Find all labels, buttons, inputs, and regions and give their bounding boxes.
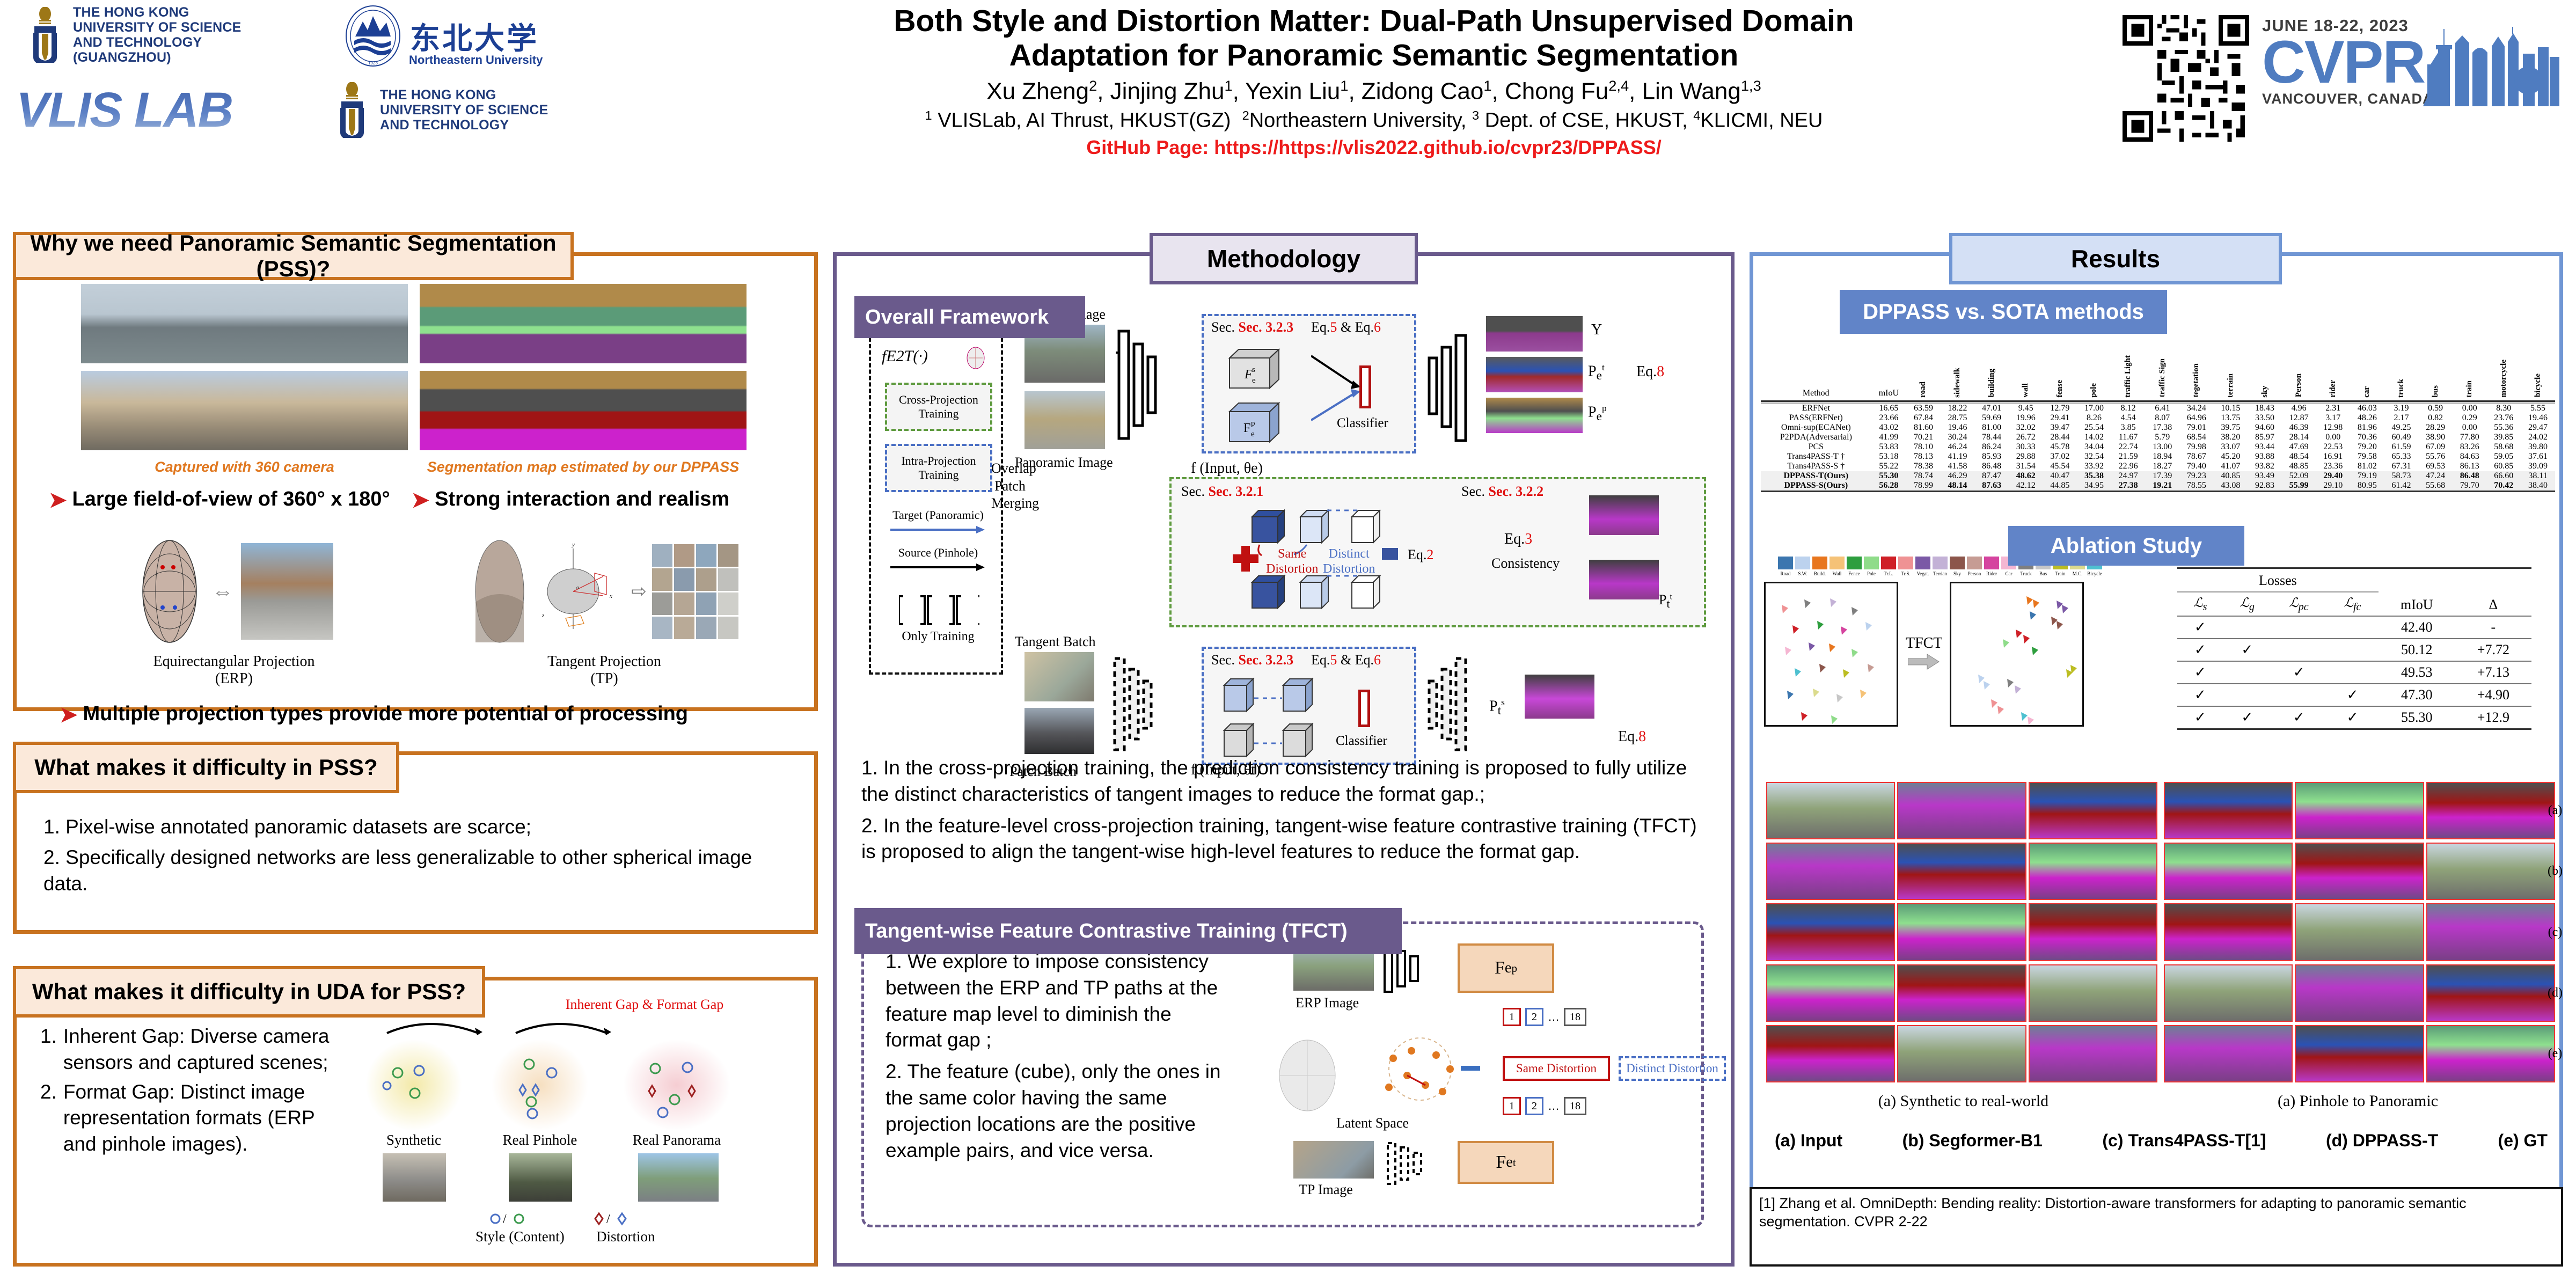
box-sec-323-top: Sec. Sec. 3.2.3 Eq.5 & Eq.6 F e s F e: [1202, 314, 1416, 453]
table-cell: 18.27: [2145, 462, 2179, 471]
table-cell: 48.54: [2282, 452, 2316, 462]
qualitative-cell: [2426, 843, 2555, 900]
label-ptt: Ptt: [1659, 592, 1672, 611]
table-cell: 93.49: [2248, 471, 2282, 481]
list-item: 1. In the cross-projection training, the…: [861, 755, 1699, 808]
legend-swatch: [1812, 557, 1827, 569]
table-cell: 78.99: [1906, 481, 1941, 492]
table-cell: 49.25: [2384, 423, 2419, 433]
table-cell: 68.54: [2179, 433, 2214, 442]
table-cell: 46.39: [2282, 423, 2316, 433]
legend-swatch: [1915, 557, 1930, 569]
table-cell: 38.40: [2521, 481, 2555, 492]
label-sec-323: Sec. Sec. 3.2.3: [1211, 319, 1293, 335]
qualitative-cell: [2164, 843, 2293, 900]
list-item: 2.Format Gap: Distinct image representat…: [40, 1079, 341, 1158]
table-cell: 18.43: [2248, 403, 2282, 413]
box-sec-323-bottom: Sec. Sec. 3.2.3 Eq.5 & Eq.6 Classifier: [1202, 647, 1416, 765]
ablation-check: [2271, 684, 2327, 706]
legend-label: Pole: [1864, 571, 1879, 576]
qualitative-cell: [1766, 903, 1895, 961]
table-cell: 78.10: [1906, 442, 1941, 452]
ablation-loss-header: ℒs: [2177, 592, 2223, 617]
section-title-difficulty-uda: What makes it difficulty in UDA for PSS?: [13, 966, 485, 1018]
hkust-gz-text: THE HONG KONG UNIVERSITY OF SCIENCE AND …: [73, 5, 241, 65]
list-item: 2. In the feature-level cross-projection…: [861, 813, 1699, 866]
qualitative-row-labels: (a)(b)(c)(d)(e): [2546, 782, 2564, 1082]
qualitative-cell: [2164, 782, 2293, 839]
table-cell: 46.03: [2350, 403, 2384, 413]
block-fep: Fep: [1458, 943, 1554, 993]
cluster-synthetic: [365, 1040, 462, 1131]
title-block: Both Style and Distortion Matter: Dual-P…: [639, 4, 2109, 159]
legend-only-training: Only Training: [877, 630, 999, 644]
table-cell: 67.09: [2418, 442, 2453, 452]
qualitative-cell: [2426, 964, 2555, 1022]
qualitative-cell: [2426, 782, 2555, 839]
author-list: Xu Zheng2, Jinjing Zhu1, Yexin Liu1, Zid…: [639, 77, 2109, 106]
stack-ptt-bottom: [1589, 560, 1659, 599]
list-item: 1. Pixel-wise annotated panoramic datase…: [43, 814, 789, 840]
table-cell: 59.69: [1974, 413, 2009, 423]
ablation-check: ✓: [2177, 684, 2223, 706]
label-erp-abbrev: (ERP): [49, 670, 419, 687]
qualitative-row: [2164, 843, 2555, 900]
vlis-lab-wordmark: VLIS LAB: [16, 82, 232, 138]
thumb-panoramic-input: [1024, 391, 1105, 449]
label-sec-323-bottom: Sec. Sec. 3.2.3: [1211, 652, 1293, 668]
table-cell: 41.19: [1941, 452, 1975, 462]
table-cell: 77.80: [2453, 433, 2487, 442]
table-cell: 85.97: [2248, 433, 2282, 442]
legend-source-pinhole: Source (Pinhole): [877, 546, 999, 560]
label-y: Y: [1591, 321, 1602, 339]
label-overlap-patch-merging: Overlap Patch Merging: [991, 460, 1029, 513]
legend-label: Road: [1778, 571, 1793, 576]
qualitative-cell: [2029, 964, 2157, 1022]
table-cell: 43.02: [1871, 423, 1907, 433]
ablation-check: ✓: [2177, 616, 2223, 639]
qualitative-cell: [1897, 964, 2026, 1022]
label-erp-name: Equirectangular Projection: [49, 653, 419, 670]
table-cell: 86.13: [2453, 462, 2487, 471]
table-cell: 45.20: [2214, 452, 2248, 462]
table-cell: 41.07: [2214, 462, 2248, 471]
table-cell: 8.12: [2111, 403, 2146, 413]
logo-vlis-lab: VLIS LAB: [16, 78, 333, 142]
table-cell: 22.96: [2111, 462, 2146, 471]
ablation-check: ✓: [2223, 639, 2271, 661]
table-cell: 0.82: [2418, 413, 2453, 423]
table-cell: 70.21: [1906, 433, 1941, 442]
table-row: DPPASS-S(Ours)56.2878.9948.1487.6342.124…: [1761, 481, 2555, 492]
panorama-photo-1: [81, 284, 408, 363]
label-synthetic: Synthetic: [365, 1132, 462, 1148]
logo-northeastern-university: 1923 东北大学 Northeastern University: [343, 4, 623, 68]
section-title-difficulty-pss: What makes it difficulty in PSS?: [13, 742, 399, 793]
qualitative-row: [1766, 843, 2157, 900]
section-title-why-pss: Why we need Panoramic Semantic Segmentat…: [13, 232, 574, 280]
table-cell: 44.85: [2043, 481, 2077, 492]
table-row: Trans4PASS-S †55.2278.3841.5886.4831.544…: [1761, 462, 2555, 471]
legend-target-panoramic: Target (Panoramic): [877, 508, 999, 522]
table-row: ✓✓49.53+7.13: [2177, 661, 2531, 684]
label-classifier-top: Classifier: [1337, 416, 1388, 431]
qualitative-cell: [1766, 1025, 1895, 1082]
table-cell: 33.50: [2248, 413, 2282, 423]
table-cell: 93.44: [2248, 442, 2282, 452]
uda-list: 1.Inherent Gap: Diverse camera sensors a…: [40, 1023, 341, 1161]
legend-label: Vegat.: [1915, 571, 1930, 576]
table-cell: 19.46: [1941, 423, 1975, 433]
feature-cubes-icon: F e s F e p: [1219, 342, 1315, 449]
table-cell: 79.19: [2350, 471, 2384, 481]
table-cell: 58.68: [2487, 442, 2521, 452]
qualitative-row: [1766, 1025, 2157, 1082]
table-cell: 79.23: [2179, 471, 2214, 481]
ablation-loss-header: ℒg: [2223, 592, 2271, 617]
table-cell: 0.59: [2418, 403, 2453, 413]
ablation-check: [2326, 661, 2378, 684]
label-tangent-batch: Tangent Batch: [1015, 634, 1096, 650]
table-cell: 79.58: [2350, 452, 2384, 462]
label-erp-image: ERP Image: [1296, 995, 1359, 1011]
list-item: 1. We explore to impose consistency betw…: [885, 949, 1229, 1053]
table-cell: 47.01: [1974, 403, 2009, 413]
legend-swatch: [1829, 557, 1845, 569]
framework-legend-box: fE2T(·) Cross-Projection Training Intra-…: [869, 331, 1003, 675]
table-cell-method: PASS(ERFNet): [1761, 413, 1871, 423]
qualitative-cell: [2295, 1025, 2424, 1082]
box-sec-321-322: Sec. Sec. 3.2.1 Sec. Sec. 3.2.2: [1169, 477, 1706, 627]
table-cell: 31.54: [2009, 462, 2043, 471]
table-cell: 37.61: [2521, 452, 2555, 462]
label-eq8-bottom: Eq.8: [1618, 728, 1646, 745]
table-cell: 48.26: [2350, 413, 2384, 423]
output-seg-3: [1486, 398, 1583, 433]
ablation-check: ✓: [2326, 706, 2378, 729]
table-col-header: train: [2453, 352, 2487, 401]
table-cell: 5.55: [2521, 403, 2555, 413]
list-item: 2. The feature (cube), only the ones in …: [885, 1059, 1229, 1163]
table-col-header: road: [1906, 352, 1941, 401]
table-cell: 67.84: [1906, 413, 1941, 423]
table-cell: 70.36: [2350, 433, 2384, 442]
table-cell: 4.54: [2111, 413, 2146, 423]
table-col-header: mIoU: [1871, 352, 1907, 401]
table-cell: 66.60: [2487, 471, 2521, 481]
black-arrow-icon: [890, 562, 987, 573]
thumb-tp-image: [1293, 1141, 1374, 1179]
qualitative-row: [2164, 903, 2555, 961]
qualitative-cell: [2295, 782, 2424, 839]
table-cell: 29.88: [2009, 452, 2043, 462]
qualitative-cell: [1766, 843, 1895, 900]
table-col-header: sidewalk: [1941, 352, 1975, 401]
qualitative-cell: [1766, 782, 1895, 839]
label-eq3: Eq.3: [1504, 531, 1532, 548]
table-cell: 48.14: [1941, 481, 1975, 492]
table-cell: 19.46: [2521, 413, 2555, 423]
table-cell: 35.38: [2077, 471, 2111, 481]
table-cell-method: DPPASS-T(Ours): [1761, 471, 1871, 481]
legend-label: Tr.L.: [1881, 571, 1896, 576]
table-cell: 0.00: [2316, 433, 2350, 442]
tsne-scatter-before-icon: [1766, 583, 1898, 727]
table-col-header: wall: [2009, 352, 2043, 401]
table-cell: 9.45: [2009, 403, 2043, 413]
table-cell: 59.05: [2487, 452, 2521, 462]
section-title-methodology: Methodology: [1150, 233, 1418, 284]
table-cell-method: Trans4PASS-T †: [1761, 452, 1871, 462]
table-cell: 22.74: [2111, 442, 2146, 452]
table-col-header: car: [2350, 352, 2384, 401]
blue-arrow-icon: [890, 524, 987, 535]
table-cell: 55.76: [2418, 452, 2453, 462]
table-cell: 4.96: [2282, 403, 2316, 413]
label-consistency: Consistency: [1491, 555, 1560, 572]
table-row: PASS(ERFNet)23.6667.8428.7559.6919.9629.…: [1761, 413, 2555, 423]
table-col-header: traffic Light: [2111, 352, 2146, 401]
table-col-header: pole: [2077, 352, 2111, 401]
hkust-text: THE HONG KONG UNIVERSITY OF SCIENCE AND …: [380, 87, 548, 133]
table-cell: 22.53: [2316, 442, 2350, 452]
paper-title-line2: Adaptation for Panoramic Semantic Segmen…: [639, 39, 2109, 73]
table-cell: 26.72: [2009, 433, 2043, 442]
svg-text:F: F: [1244, 368, 1253, 382]
table-cell: 24.97: [2111, 471, 2146, 481]
table-row: ✓✓47.30+4.90: [2177, 684, 2531, 706]
table-cell: 94.60: [2248, 423, 2282, 433]
label-tp-image: TP Image: [1299, 1182, 1353, 1198]
ablation-delta: +12.9: [2455, 706, 2531, 729]
ablation-check: ✓: [2223, 706, 2271, 729]
table-cell: 34.04: [2077, 442, 2111, 452]
table-cell: 41.58: [1941, 462, 1975, 471]
ablation-check: ✓: [2177, 706, 2223, 729]
neu-seal-icon: 1923: [343, 4, 402, 68]
table-cell: 40.47: [2043, 471, 2077, 481]
table-cell: 47.69: [2282, 442, 2316, 452]
table-cell: 80.95: [2350, 481, 2384, 492]
table-cell: 24.02: [2521, 433, 2555, 442]
sphere-small-icon: [962, 342, 989, 370]
tangent-patch-grid: [652, 544, 738, 639]
github-link[interactable]: GitHub Page: https://https://vlis2022.gi…: [639, 136, 2109, 159]
hkust-crest-icon: [333, 82, 371, 138]
legend-swatch: [1847, 557, 1862, 569]
output-seg-1: [1486, 316, 1583, 352]
domain-gap-diagram: Inherent Gap Inherent Gap & Format Gap: [355, 997, 800, 1254]
legend-swatch: [1984, 557, 1999, 569]
qualitative-row-label: (a): [2546, 782, 2564, 839]
legend-label: Truck: [2018, 571, 2033, 576]
table-cell: 18.94: [2145, 452, 2179, 462]
arrow-bullet-icon: ➤: [49, 488, 67, 513]
qualitative-group-captions: (a) Synthetic to real-world (a) Pinhole …: [1766, 1092, 2555, 1110]
svg-text:1923: 1923: [368, 61, 378, 65]
sota-results-table: MethodmIoUroadsidewalkbuildingwallfensep…: [1761, 352, 2555, 493]
cluster-points-icon: [365, 1040, 462, 1131]
right-arrow-icon: [1908, 652, 1940, 671]
table-col-header: truck: [2384, 352, 2419, 401]
table-cell: 39.85: [2487, 433, 2521, 442]
table-cell: 19.21: [2145, 481, 2179, 492]
ablation-miou: 49.53: [2379, 661, 2455, 684]
table-cell: 14.02: [2077, 433, 2111, 442]
table-cell: 92.83: [2248, 481, 2282, 492]
svg-text:x: x: [609, 593, 612, 599]
patch-id-18: 18: [1564, 1008, 1586, 1026]
table-cell: 3.17: [2316, 413, 2350, 423]
table-cell: 23.36: [2316, 462, 2350, 471]
legend-label: M.C.: [2070, 571, 2085, 576]
table-cell: 60.85: [2487, 462, 2521, 471]
table-cell: 12.87: [2282, 413, 2316, 423]
table-cell: 40.85: [2214, 471, 2248, 481]
decoder-blocks-lower-icon: [1426, 653, 1474, 760]
legend-label: Sky: [1950, 571, 1965, 576]
label-pep: Pep: [1588, 403, 1607, 424]
table-cell: 79.98: [2179, 442, 2214, 452]
stack-pts: [1525, 675, 1594, 719]
ablation-table-wrap: LossesmIoUΔℒsℒgℒpcℒfc✓42.40-✓✓50.12+7.72…: [2177, 567, 2531, 731]
label-dppass-vs-sota: DPPASS vs. SOTA methods: [1840, 290, 2167, 334]
table-col-header: bicycle: [2521, 352, 2555, 401]
table-col-header: Method: [1761, 352, 1871, 401]
latent-space-scatter: [1356, 1036, 1490, 1111]
qualitative-column-caption: (d) DPPASS-T: [2326, 1131, 2438, 1151]
table-cell: 18.22: [1941, 403, 1975, 413]
section-results: MethodmIoUroadsidewalkbuildingwallfensep…: [1750, 252, 2563, 1229]
table-cell: 11.67: [2111, 433, 2146, 442]
table-cell: 0.29: [2453, 413, 2487, 423]
table-cell: 8.30: [2487, 403, 2521, 413]
caption-segmentation-dppass: Segmentation map estimated by our DPPASS: [420, 459, 747, 475]
caption-captured-360: Captured with 360 camera: [81, 459, 408, 475]
tsne-after: [1950, 582, 2084, 727]
neu-english-name: Northeastern University: [409, 54, 543, 67]
table-cell: 39.09: [2521, 462, 2555, 471]
table-cell: 19.96: [2009, 413, 2043, 423]
label-same-distortion-tfct: Same Distortion: [1503, 1056, 1610, 1081]
legend-swatch: [1881, 557, 1896, 569]
bullet-multiple-projection: ➤ Multiple projection types provide more…: [60, 702, 688, 727]
difficulty-pss-list: 1. Pixel-wise annotated panoramic datase…: [43, 814, 789, 897]
table-cell: 48.85: [2282, 462, 2316, 471]
table-cell: 0.00: [2453, 403, 2487, 413]
table-cell: 3.19: [2384, 403, 2419, 413]
segmentation-map-1: [420, 284, 747, 363]
table-row: ✓42.40-: [2177, 616, 2531, 639]
table-cell: 28.14: [2282, 433, 2316, 442]
right-arrow-icon: ⇨: [631, 581, 647, 602]
table-cell: 87.63: [1974, 481, 2009, 492]
table-col-header: tegetation: [2179, 352, 2214, 401]
table-cell: 85.93: [1974, 452, 2009, 462]
label-sec-321: Sec. Sec. 3.2.1: [1181, 484, 1263, 500]
legend-label: Wall: [1829, 571, 1845, 576]
qualitative-row: [1766, 903, 2157, 961]
reference-box: [1] Zhang et al. OmniDepth: Bending real…: [1750, 1187, 2563, 1267]
table-cell: 78.55: [2179, 481, 2214, 492]
table-cell: 32.54: [2077, 452, 2111, 462]
table-col-header: bus: [2418, 352, 2453, 401]
svg-text:/: /: [606, 1212, 610, 1226]
bullet-strong-interaction: ➤ Strong interaction and realism: [412, 488, 730, 513]
legend-intra-projection: Intra-Projection Training: [885, 444, 992, 492]
svg-text:s: s: [1252, 365, 1255, 374]
qualitative-column-captions: (a) Input(b) Segformer-B1(c) Trans4PASS-…: [1775, 1131, 2548, 1151]
table-cell: 30.24: [1941, 433, 1975, 442]
table-cell: 93.88: [2248, 452, 2282, 462]
table-col-header: fense: [2043, 352, 2077, 401]
patch-id-2: 2: [1525, 1097, 1543, 1115]
table-cell: 16.65: [1871, 403, 1907, 413]
patch-id-row-top: 1 2 … 18: [1503, 1008, 1586, 1026]
legend-markers-icon: / /: [489, 1207, 714, 1231]
cluster-real-panorama: [623, 1040, 730, 1131]
qualitative-cell: [1897, 782, 2026, 839]
table-cell: 8.07: [2145, 413, 2179, 423]
table-cell: 86.48: [2453, 471, 2487, 481]
label-tfct-title: Tangent-wise Feature Contrastive Trainin…: [854, 908, 1402, 954]
tsne-scatter-after-icon: [1951, 583, 2084, 727]
qualitative-cell: [2295, 843, 2424, 900]
ablation-check: ✓: [2177, 639, 2223, 661]
table-row: P2PDA(Adversarial)41.9970.2130.2478.4426…: [1761, 433, 2555, 442]
label-tp-name: Tangent Projection: [419, 653, 789, 670]
table-cell: 39.47: [2043, 423, 2077, 433]
qualitative-cell: [1897, 1025, 2026, 1082]
ablation-delta: +7.13: [2455, 661, 2531, 684]
label-tfct-arrow: TFCT: [1906, 635, 1942, 652]
table-cell: 17.00: [2077, 403, 2111, 413]
table-cell: 81.96: [2350, 423, 2384, 433]
encoder-blocks-icon: [1116, 320, 1180, 455]
thumb-tangent-batch: [1024, 652, 1094, 701]
table-cell: 34.95: [2077, 481, 2111, 492]
table-cell: 28.44: [2043, 433, 2077, 442]
ablation-delta: +4.90: [2455, 684, 2531, 706]
ablation-check: [2271, 616, 2327, 639]
table-cell: 45.54: [2043, 462, 2077, 471]
svg-text:z: z: [541, 612, 545, 619]
ellipsis-icon: …: [1548, 1010, 1560, 1024]
table-cell: 23.76: [2487, 413, 2521, 423]
vancouver-skyline-icon: [2423, 27, 2562, 107]
label-sec-322: Sec. Sec. 3.2.2: [1461, 484, 1543, 500]
qr-code-icon[interactable]: [2123, 15, 2249, 142]
table-cell: 29.41: [2043, 413, 2077, 423]
table-cell: 64.96: [2179, 413, 2214, 423]
cluster-real-pinhole: [492, 1040, 588, 1131]
table-cell: 37.02: [2043, 452, 2077, 462]
qualitative-row: [1766, 782, 2157, 839]
table-cell: 28.29: [2418, 423, 2453, 433]
table-cell: 27.38: [2111, 481, 2146, 492]
logo-hkust: THE HONG KONG UNIVERSITY OF SCIENCE AND …: [333, 80, 633, 140]
segmentation-map-2: [420, 371, 747, 450]
table-cell: 17.39: [2145, 471, 2179, 481]
table-cell: 78.38: [1906, 462, 1941, 471]
svg-text:y: y: [572, 541, 575, 548]
ablation-miou-header: mIoU: [2379, 570, 2455, 617]
qualitative-row: [1766, 964, 2157, 1022]
cluster-points-icon: [623, 1040, 730, 1131]
qualitative-row: [2164, 782, 2555, 839]
table-cell: 55.36: [2487, 423, 2521, 433]
